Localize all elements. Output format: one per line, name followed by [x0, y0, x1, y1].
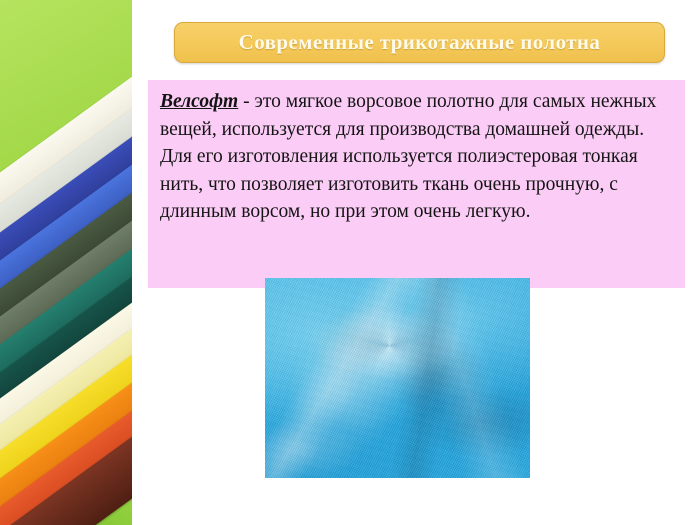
lead-separator: - — [238, 91, 254, 112]
fabric-stack-image — [0, 0, 141, 525]
lead-term: Велсофт — [160, 91, 238, 112]
body-text-panel: Велсофт - это мягкое ворсовое полотно дл… — [148, 80, 685, 288]
fleece-pile-texture — [265, 278, 530, 478]
fleece-fabric-photo — [265, 278, 530, 478]
slide-title-text: Современные трикотажные полотна — [239, 30, 601, 55]
body-paragraph: Велсофт - это мягкое ворсовое полотно дл… — [160, 88, 668, 226]
fabric-stack-edge-gutter — [132, 0, 141, 525]
slide-title-plaque: Современные трикотажные полотна — [174, 22, 665, 63]
slide-canvas: Современные трикотажные полотна Велсофт … — [0, 0, 700, 525]
